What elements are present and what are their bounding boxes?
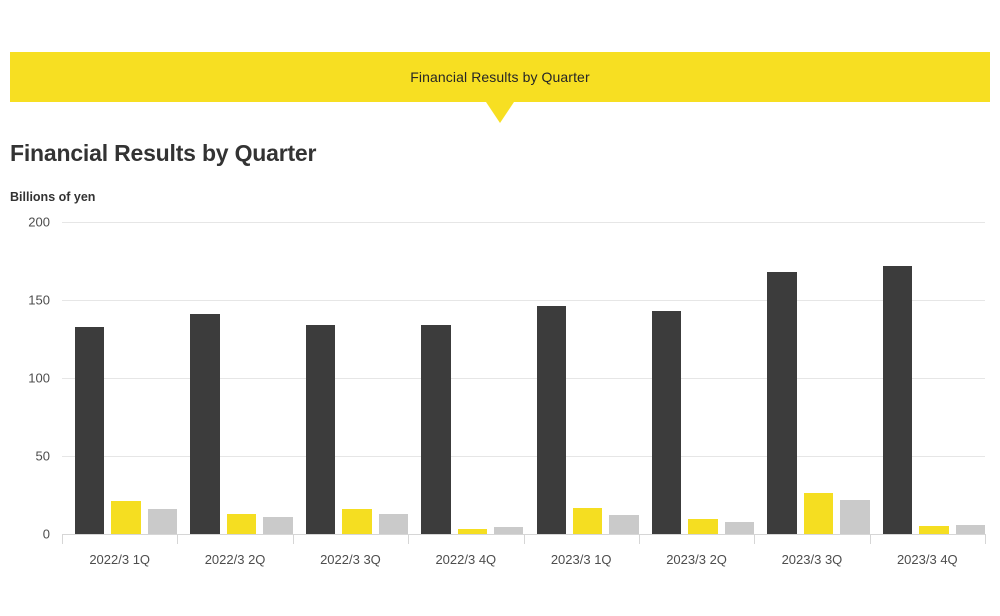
y-axis-tick-label: 50 [36,449,50,464]
x-axis-tick [62,534,63,544]
bar[interactable] [306,325,335,534]
bar-groups [62,222,985,534]
banner: Financial Results by Quarter [10,52,990,102]
x-axis-tick [524,534,525,544]
x-axis-label: 2023/3 2Q [639,544,754,567]
y-axis-tick-label: 150 [28,293,50,308]
bar[interactable] [75,327,104,534]
bar-set [870,222,985,534]
bar[interactable] [148,509,177,534]
bar-group [754,222,869,534]
bar[interactable] [227,514,256,534]
x-axis-tick [293,534,294,544]
x-axis-tick [754,534,755,544]
page-root: Financial Results by Quarter Financial R… [0,0,1000,616]
bar-set [639,222,754,534]
bar[interactable] [883,266,912,534]
bar[interactable] [688,519,717,534]
x-axis-label: 2023/3 4Q [870,544,985,567]
y-axis-tick-label: 100 [28,371,50,386]
bar-set [293,222,408,534]
bar-set [524,222,639,534]
bar[interactable] [652,311,681,534]
banner-pointer-triangle [486,102,514,123]
bar[interactable] [342,509,371,534]
bar[interactable] [804,493,833,534]
bar[interactable] [458,529,487,534]
bar[interactable] [263,517,292,534]
bar[interactable] [956,525,985,534]
x-axis-tick [177,534,178,544]
bar[interactable] [573,508,602,534]
bar-set [408,222,523,534]
x-axis-tick [870,534,871,544]
x-axis-label: 2022/3 2Q [177,544,292,567]
x-axis-label: 2023/3 3Q [754,544,869,567]
bar[interactable] [494,527,523,534]
bar-group [177,222,292,534]
y-axis-tick-label: 200 [28,215,50,230]
bar[interactable] [537,306,566,534]
x-axis-label: 2022/3 3Q [293,544,408,567]
bar-set [62,222,177,534]
bar-group [870,222,985,534]
axis-unit-label: Billions of yen [10,190,95,204]
bar[interactable] [840,500,869,534]
bar[interactable] [919,526,948,534]
x-axis-tick [639,534,640,544]
x-axis-label: 2023/3 1Q [524,544,639,567]
banner-label: Financial Results by Quarter [410,69,589,85]
x-axis-tick [408,534,409,544]
bar[interactable] [421,325,450,534]
plot-area: 050100150200 [62,222,985,534]
bar-chart: 050100150200 2022/3 1Q2022/3 2Q2022/3 3Q… [0,212,1000,582]
bar-group [408,222,523,534]
bar-set [754,222,869,534]
x-axis-tick [985,534,986,544]
bar-group [62,222,177,534]
bar-group [639,222,754,534]
bar-group [293,222,408,534]
x-axis-label: 2022/3 1Q [62,544,177,567]
bar[interactable] [767,272,796,534]
x-axis-labels: 2022/3 1Q2022/3 2Q2022/3 3Q2022/3 4Q2023… [62,544,985,567]
bar[interactable] [111,501,140,534]
bar-group [524,222,639,534]
bar[interactable] [725,522,754,534]
bar[interactable] [379,514,408,534]
page-title: Financial Results by Quarter [10,140,316,167]
bar-set [177,222,292,534]
y-axis-tick-label: 0 [43,527,50,542]
x-axis-label: 2022/3 4Q [408,544,523,567]
bar[interactable] [190,314,219,534]
bar[interactable] [609,515,638,534]
